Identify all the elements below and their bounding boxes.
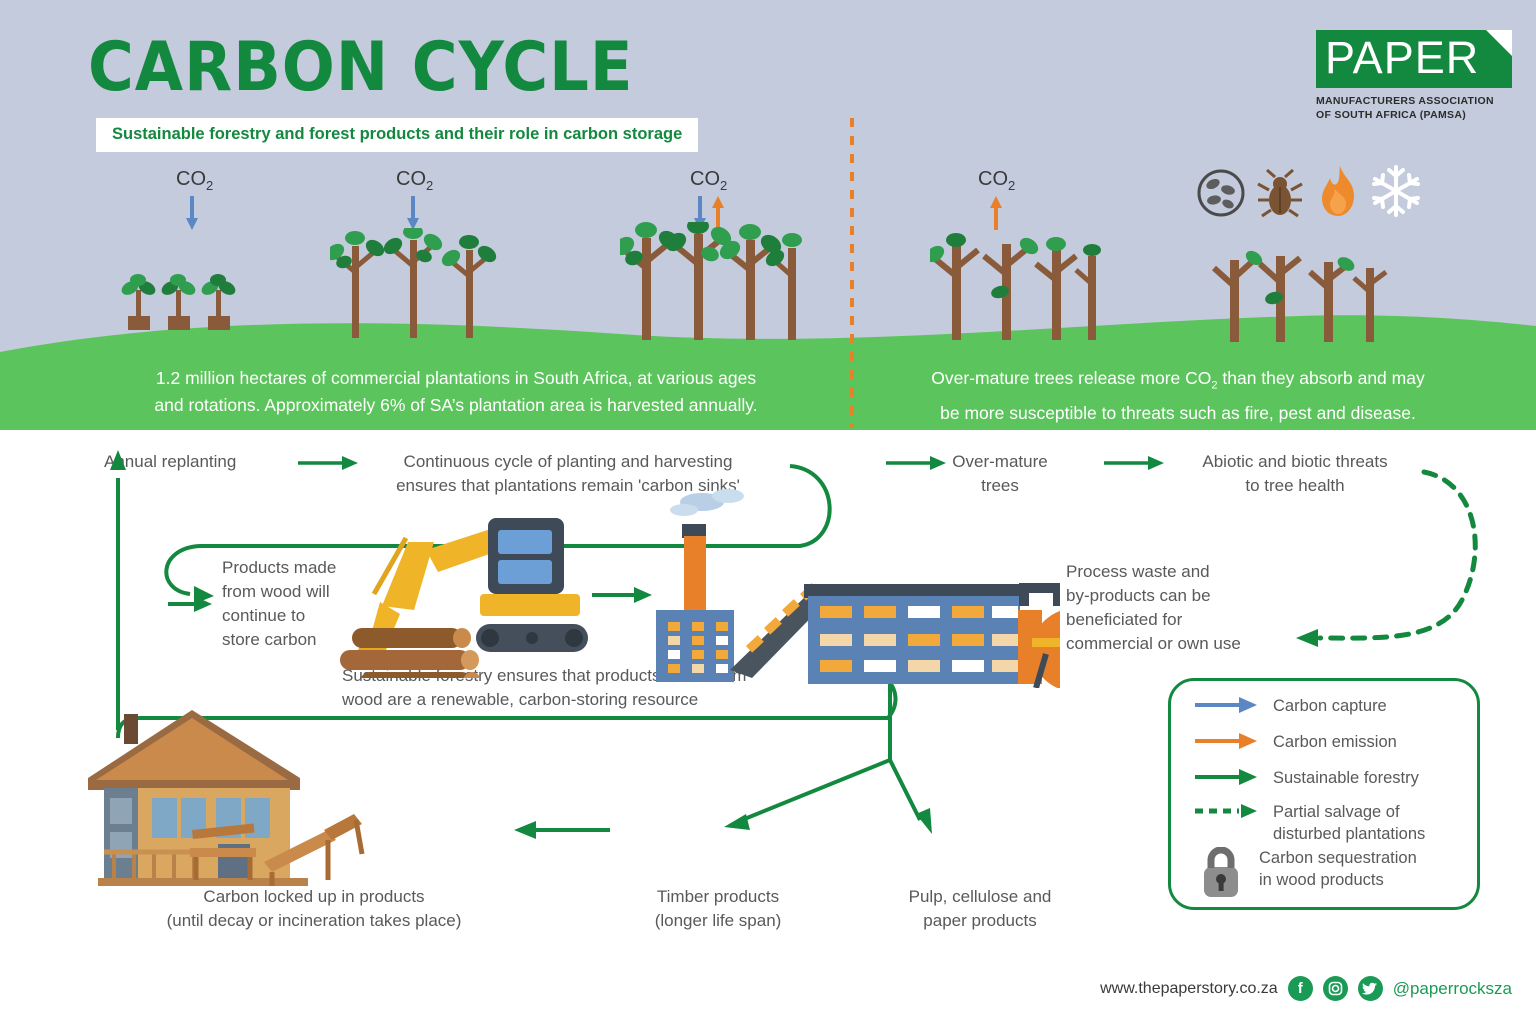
carbon-capture-arrow-1 [184, 196, 200, 230]
banner-left-line2: and rotations. Approximately 6% of SA’s … [96, 392, 816, 419]
banner-left-line1: 1.2 million hectares of commercial plant… [96, 365, 816, 392]
banner-right-text: Over-mature trees release more CO2 than … [888, 365, 1468, 427]
logo-wordmark: PAPER [1325, 32, 1479, 84]
logo-subtitle: MANUFACTURERS ASSOCIATION OF SOUTH AFRIC… [1316, 94, 1512, 122]
banner-right-line2: be more susceptible to threats such as f… [888, 400, 1468, 427]
instagram-icon[interactable] [1323, 976, 1348, 1001]
timber-line1: Timber products [610, 885, 826, 909]
subtitle-banner: Sustainable forestry and forest products… [96, 118, 698, 152]
over-mature-tree-group [930, 232, 1110, 340]
co2-text-4: CO2 [978, 168, 1015, 190]
carbon-capture-arrow-2 [405, 196, 421, 230]
medium-tree-group [330, 228, 510, 338]
locked-line2: (until decay or incineration takes place… [80, 909, 548, 933]
pulp-line2: paper products [872, 909, 1088, 933]
legend-label-sustainable-forestry: Sustainable forestry [1273, 767, 1419, 789]
green-dashed-arrow-icon [1193, 801, 1259, 821]
disease-icon [1196, 168, 1246, 218]
co2-label-4: CO2 [978, 168, 1015, 193]
mature-tree-group [620, 222, 820, 340]
legend-box: Carbon capture Carbon emission Sustainab… [1168, 678, 1480, 910]
label-pulp-products: Pulp, cellulose and paper products [872, 885, 1088, 933]
label-process-waste: Process waste and by-products can be ben… [1066, 560, 1296, 656]
sky-background: CARBON CYCLE Sustainable forestry and fo… [0, 0, 1536, 430]
partial-salvage-line2: disturbed plantations [1273, 823, 1425, 845]
logo-subtitle-line2: OF SOUTH AFRICA (PAMSA) [1316, 108, 1512, 122]
co2-text-3: CO2 [690, 168, 727, 190]
timber-line2: (longer life span) [610, 909, 826, 933]
carbon-emission-arrow-4 [988, 196, 1004, 230]
legend-item-carbon-emission: Carbon emission [1193, 731, 1397, 753]
label-timber-products: Timber products (longer life span) [610, 885, 826, 933]
legend-item-sustainable-forestry: Sustainable forestry [1193, 767, 1419, 789]
threatened-tree-group [1210, 250, 1400, 342]
label-carbon-locked: Carbon locked up in products (until deca… [80, 885, 548, 933]
locked-line1: Carbon locked up in products [80, 885, 548, 909]
pulp-line1: Pulp, cellulose and [872, 885, 1088, 909]
blue-arrow-icon [1193, 695, 1259, 715]
partial-salvage-line1: Partial salvage of [1273, 801, 1425, 823]
sequestration-line1: Carbon sequestration [1259, 847, 1417, 869]
section-divider [850, 118, 854, 428]
orange-arrow-icon [1193, 731, 1259, 751]
legend-item-partial-salvage: Partial salvage of disturbed plantations [1193, 801, 1425, 845]
wooden-house-illustration [68, 702, 398, 888]
sustainable-line2: wood are a renewable, carbon-storing res… [342, 688, 842, 712]
website-url[interactable]: www.thepaperstory.co.za [1100, 980, 1278, 998]
subtitle-text: Sustainable forestry and forest products… [112, 125, 682, 144]
pamsa-logo[interactable]: PAPER MANUFACTURERS ASSOCIATION OF SOUTH… [1316, 30, 1512, 122]
co2-text-1: CO2 [176, 168, 213, 190]
twitter-icon[interactable] [1358, 976, 1383, 1001]
page-fold-icon [1486, 30, 1512, 56]
legend-item-carbon-capture: Carbon capture [1193, 695, 1387, 717]
process-waste-line4: commercial or own use [1066, 632, 1296, 656]
frost-snowflake-icon [1370, 164, 1422, 218]
logo-green-box: PAPER [1316, 30, 1512, 88]
facebook-icon[interactable]: f [1288, 976, 1313, 1001]
process-waste-line2: by-products can be [1066, 584, 1296, 608]
legend-label-carbon-sequestration: Carbon sequestration in wood products [1259, 847, 1417, 891]
banner-left-text: 1.2 million hectares of commercial plant… [96, 365, 816, 419]
legend-item-carbon-sequestration: Carbon sequestration in wood products [1197, 847, 1417, 899]
co2-label-2: CO2 [396, 168, 433, 193]
legend-label-carbon-capture: Carbon capture [1273, 695, 1387, 717]
excavator-illustration [330, 498, 600, 678]
footer: www.thepaperstory.co.za f @paperrocksza [1100, 976, 1512, 1001]
paper-mill-illustration [640, 488, 1060, 688]
infographic-root: CARBON CYCLE Sustainable forestry and fo… [0, 0, 1536, 1021]
process-waste-line3: beneficiated for [1066, 608, 1296, 632]
legend-label-carbon-emission: Carbon emission [1273, 731, 1397, 753]
co2-text-2: CO2 [396, 168, 433, 190]
page-title: CARBON CYCLE [88, 28, 634, 107]
fire-icon [1316, 164, 1360, 218]
logo-subtitle-line1: MANUFACTURERS ASSOCIATION [1316, 94, 1512, 108]
banner-right-line1: Over-mature trees release more CO2 than … [888, 365, 1468, 400]
green-arrow-icon [1193, 767, 1259, 787]
sapling-group [118, 268, 258, 334]
legend-label-partial-salvage: Partial salvage of disturbed plantations [1273, 801, 1425, 845]
social-handle[interactable]: @paperrocksza [1393, 979, 1512, 999]
co2-label-3: CO2 [690, 168, 727, 193]
sequestration-line2: in wood products [1259, 869, 1417, 891]
process-waste-line1: Process waste and [1066, 560, 1296, 584]
padlock-icon [1197, 847, 1249, 899]
pest-beetle-icon [1256, 168, 1304, 218]
co2-label-1: CO2 [176, 168, 213, 193]
